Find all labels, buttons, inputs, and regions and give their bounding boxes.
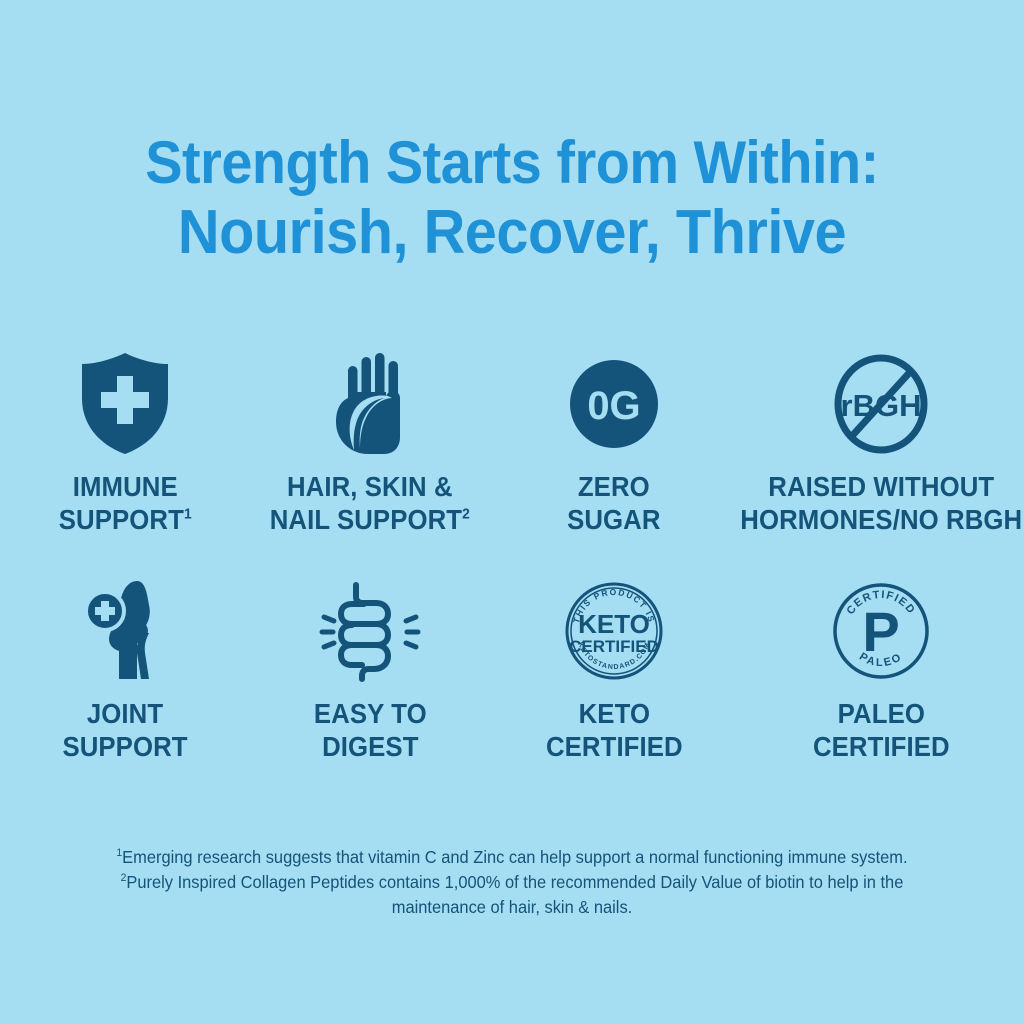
benefit-label-line-2: SUPPORT <box>62 730 187 763</box>
benefit-item-joint-support: JOINT SUPPORT <box>0 579 250 763</box>
certified-paleo-seal-icon: CERTIFIED P PALEO <box>830 579 932 683</box>
benefit-label-line-2: NAIL SUPPORT2 <box>270 503 470 536</box>
benefit-item-easy-to-digest: EASY TO DIGEST <box>250 579 490 763</box>
benefit-label-immune-support: IMMUNE SUPPORT1 <box>59 470 192 536</box>
benefit-label-easy-to-digest: EASY TO DIGEST <box>314 697 427 763</box>
benefit-item-keto-certified: THIS PRODUCT IS KETO CERTIFIED KETOSTAND… <box>490 579 738 763</box>
benefits-row-2: JOINT SUPPORT <box>0 579 1024 763</box>
benefit-item-no-rbgh: rBGH RAISED WITHOUT HORMONES/NO RBGH <box>738 352 1024 536</box>
footnote-2-text-part-1: Purely Inspired Collagen Peptides contai… <box>126 872 903 892</box>
rbgh-label: rBGH <box>841 388 922 423</box>
headline-line-1: Strength Starts from Within: <box>36 128 988 198</box>
benefit-label-line-1: HAIR, SKIN & <box>270 470 470 503</box>
benefit-label-line-2: SUPPORT1 <box>59 503 192 536</box>
benefit-label-line-1: ZERO <box>567 470 660 503</box>
footnote-2-line-1: 2Purely Inspired Collagen Peptides conta… <box>31 870 994 895</box>
benefit-label-line-2: SUGAR <box>567 503 660 536</box>
benefit-label-line-2: CERTIFIED <box>813 730 950 763</box>
benefit-label-line-1: RAISED WITHOUT <box>740 470 1022 503</box>
intestine-icon <box>318 579 422 683</box>
zero-grams-label: 0G <box>587 384 640 428</box>
no-rbgh-icon: rBGH <box>831 352 931 456</box>
benefit-label-line-1: EASY TO <box>314 697 427 730</box>
infographic-page: Strength Starts from Within: Nourish, Re… <box>0 0 1024 1024</box>
benefit-item-zero-sugar: 0G ZERO SUGAR <box>490 352 738 536</box>
benefit-label-joint-support: JOINT SUPPORT <box>62 697 187 763</box>
knee-joint-plus-icon <box>79 579 171 683</box>
keto-certified-seal-icon: THIS PRODUCT IS KETO CERTIFIED KETOSTAND… <box>563 579 665 683</box>
keto-seal-main-line-1: KETO <box>578 609 650 639</box>
benefit-item-hair-skin-nail-support: HAIR, SKIN & NAIL SUPPORT2 <box>250 352 490 536</box>
benefit-label-hair-skin-nail-support: HAIR, SKIN & NAIL SUPPORT2 <box>270 470 470 536</box>
benefit-label-paleo-certified: PALEO CERTIFIED <box>813 697 950 763</box>
benefit-item-immune-support: IMMUNE SUPPORT1 <box>0 352 250 536</box>
benefit-item-paleo-certified: CERTIFIED P PALEO PALEO CERTIFIED <box>738 579 1024 763</box>
headline-line-2: Nourish, Recover, Thrive <box>36 198 988 268</box>
footnote-2-line-2: maintenance of hair, skin & nails. <box>31 895 994 920</box>
hand-leaf-icon <box>328 352 412 456</box>
benefit-label-line-2: HORMONES/NO RBGH <box>740 503 1022 536</box>
benefits-grid: IMMUNE SUPPORT1 <box>0 352 1024 763</box>
shield-cross-icon <box>79 352 171 456</box>
benefit-label-line-2: CERTIFIED <box>546 730 683 763</box>
benefit-label-line-1: IMMUNE <box>59 470 192 503</box>
page-title: Strength Starts from Within: Nourish, Re… <box>36 128 988 268</box>
footnote-marker: 1 <box>184 506 192 523</box>
footnote-1: 1Emerging research suggests that vitamin… <box>31 845 994 870</box>
benefit-label-line-2-text: NAIL SUPPORT <box>270 504 462 535</box>
benefit-label-line-1: JOINT <box>62 697 187 730</box>
benefit-label-zero-sugar: ZERO SUGAR <box>567 470 660 536</box>
benefit-label-line-1: KETO <box>546 697 683 730</box>
footnote-1-text: Emerging research suggests that vitamin … <box>122 847 907 867</box>
zero-grams-circle-icon: 0G <box>568 352 660 456</box>
benefit-label-keto-certified: KETO CERTIFIED <box>546 697 683 763</box>
footnote-marker: 2 <box>462 506 470 523</box>
benefits-row-1: IMMUNE SUPPORT1 <box>0 352 1024 536</box>
benefit-label-line-1: PALEO <box>813 697 950 730</box>
benefit-label-no-rbgh: RAISED WITHOUT HORMONES/NO RBGH <box>740 470 1022 536</box>
benefit-label-line-2: DIGEST <box>314 730 427 763</box>
footnotes-block: 1Emerging research suggests that vitamin… <box>31 845 994 920</box>
benefit-label-line-2-text: SUPPORT <box>59 504 184 535</box>
